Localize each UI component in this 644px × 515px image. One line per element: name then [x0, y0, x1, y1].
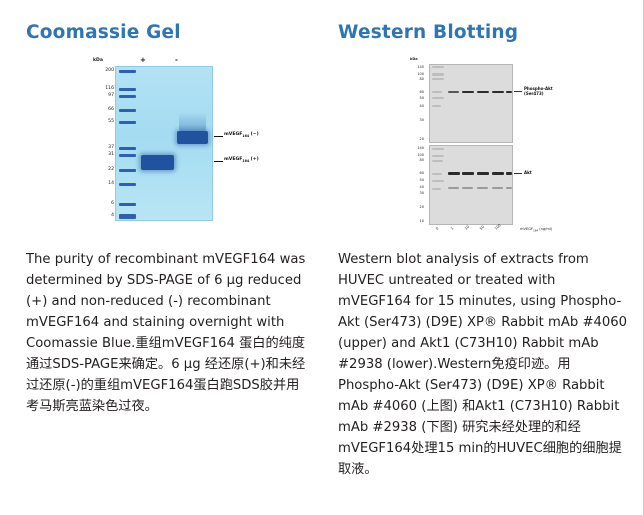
gel-ladder-mark-116: 116: [94, 86, 114, 91]
blot-upper-mark-20: 20: [408, 137, 424, 141]
gel-band-mvegf164-reduced: [141, 155, 174, 170]
blot-lower-ladder-smear-50: [432, 180, 444, 182]
western-blot-title: Western Blotting: [338, 22, 628, 43]
gel-band-mvegf164-nonreduced: [177, 131, 208, 144]
blot-upper-ladder-smear-100: [432, 73, 444, 76]
blot-upper-label-line2: (Ser473): [524, 91, 553, 96]
gel-marker-band-116: [119, 88, 136, 91]
blot-upper-mark-60: 60: [408, 90, 424, 94]
blot-lower-mark-140: 140: [408, 146, 424, 150]
coomassie-gel-panel: Coomassie Gel + - kDa 200 116 97 66 55 3…: [0, 0, 322, 515]
blot-lower-ladder-smear-80: [432, 160, 443, 162]
gel-ladder-labels: kDa 200 116 97 66 55 37 31 22 14 6 4: [91, 57, 115, 229]
blot-lower-faint-lane4: [492, 187, 503, 189]
gel-lane-header-reduced: +: [140, 56, 146, 64]
blot-ladder-unit: kDa: [410, 57, 418, 61]
blot-lower-mark-10: 10: [408, 219, 424, 223]
gel-band-label-reduced: mVEGF164 (+): [224, 157, 259, 163]
blot-xtick-1: 1: [450, 226, 454, 230]
blot-membrane-lower: [429, 145, 513, 225]
gel-ladder-mark-6: 6: [94, 201, 114, 206]
gel-leader-reduced: [214, 161, 223, 162]
blot-xtick-10: 10: [464, 225, 470, 231]
blot-upper-mark-50: 50: [408, 96, 424, 100]
figure-page: Coomassie Gel + - kDa 200 116 97 66 55 3…: [0, 0, 644, 515]
blot-lower-mark-60: 60: [408, 171, 424, 175]
blot-lower-leader: [514, 173, 522, 174]
blot-upper-leader: [514, 91, 522, 92]
gel-ladder-mark-22: 22: [94, 167, 114, 172]
gel-lane-header-nonreduced: -: [175, 56, 178, 64]
blot-upper-ladder-smear-80: [432, 78, 444, 80]
blot-lower-mark-40: 40: [408, 185, 424, 189]
blot-lower-band-lane5: [506, 172, 512, 175]
blot-lower-band-lane4: [492, 172, 504, 175]
blot-membrane-upper: [429, 64, 513, 143]
gel-ladder-mark-4: 4: [94, 213, 114, 218]
blot-lower-band-lane2: [462, 172, 474, 175]
gel-ladder-mark-200: 200: [94, 68, 114, 73]
blot-lower-mark-80: 80: [408, 158, 424, 162]
blot-lower-mark-20: 20: [408, 205, 424, 209]
blot-xtick-0: 0: [435, 226, 439, 230]
gel-band-label-nonreduced: mVEGF164 (−): [224, 132, 259, 138]
blot-lower-mark-30: 30: [408, 191, 424, 195]
blot-x-axis-label: mVEGF164 (ng/ml): [520, 227, 552, 233]
blot-upper-band-lane2: [462, 91, 474, 94]
western-blot-caption: Western blot analysis of extracts from H…: [338, 249, 628, 480]
coomassie-gel-image: + - kDa 200 116 97 66 55 37 31 22 14 6 4: [91, 57, 241, 229]
blot-lower-band-lane3: [477, 172, 489, 175]
gel-ladder-unit: kDa: [93, 58, 103, 63]
gel-band-smear-nonreduced: [179, 112, 206, 131]
blot-lower-mark-50: 50: [408, 178, 424, 182]
blot-lower-faint-lane1: [448, 187, 459, 189]
blot-lower-ladder-smear-140: [432, 148, 444, 150]
gel-ladder-mark-14: 14: [94, 181, 114, 186]
blot-upper-band-lane4: [492, 91, 504, 94]
blot-upper-ladder-smear-50: [432, 97, 444, 99]
western-blot-figure-wrap: kDa 140 100: [338, 57, 628, 233]
blot-lower-band-lane1: [448, 172, 460, 175]
blot-lower-label: Akt: [524, 170, 532, 175]
gel-marker-band-37: [119, 147, 136, 150]
gel-membrane: [115, 66, 213, 221]
blot-upper-mark-80: 80: [408, 77, 424, 81]
blot-upper-mark-140: 140: [408, 65, 424, 69]
gel-leader-nonreduced: [214, 136, 223, 137]
gel-marker-band-31: [119, 154, 136, 157]
coomassie-gel-figure-wrap: + - kDa 200 116 97 66 55 37 31 22 14 6 4: [26, 57, 306, 233]
gel-marker-band-200: [119, 70, 136, 73]
gel-marker-band-14: [119, 183, 136, 186]
blot-lower-faint-lane3: [477, 187, 488, 189]
blot-upper-band-lane1: [448, 91, 459, 93]
blot-lower-ladder-smear-60: [432, 173, 442, 175]
blot-upper-band-lane5: [506, 91, 512, 94]
western-blot-image: kDa 140 100: [408, 57, 558, 233]
gel-ladder-mark-37: 37: [94, 145, 114, 150]
blot-upper-label: Phospho-Akt (Ser473): [524, 86, 553, 96]
gel-marker-band-22: [119, 169, 136, 172]
blot-upper-ladder-smear-40: [432, 105, 441, 107]
blot-lower-ladder-smear-40: [432, 188, 441, 190]
gel-ladder-mark-55: 55: [94, 119, 114, 124]
gel-ladder-mark-31: 31: [94, 152, 114, 157]
blot-upper-band-lane3: [477, 91, 489, 94]
blot-lower-mark-100: 100: [408, 153, 424, 157]
western-blot-panel: Western Blotting kDa: [322, 0, 644, 515]
coomassie-gel-caption: The purity of recombinant mVEGF164 was d…: [26, 249, 306, 417]
gel-marker-band-4: [119, 214, 136, 219]
blot-lower-faint-lane2: [462, 187, 473, 189]
gel-marker-band-55: [119, 121, 136, 124]
blot-lower-ladder-smear-100: [432, 155, 444, 157]
gel-marker-band-66: [119, 109, 136, 112]
gel-marker-band-97: [119, 95, 136, 98]
gel-ladder-mark-66: 66: [94, 107, 114, 112]
blot-upper-ladder-smear-140: [432, 66, 444, 68]
coomassie-gel-title: Coomassie Gel: [26, 22, 306, 43]
blot-xtick-50: 50: [479, 225, 485, 231]
blot-upper-mark-100: 100: [408, 72, 424, 76]
blot-upper-ladder-smear-60: [432, 91, 442, 93]
blot-upper-mark-30: 30: [408, 118, 424, 122]
blot-upper-mark-40: 40: [408, 104, 424, 108]
gel-marker-band-6: [119, 203, 136, 206]
blot-lower-faint-lane5: [506, 187, 512, 189]
gel-ladder-mark-97: 97: [94, 93, 114, 98]
